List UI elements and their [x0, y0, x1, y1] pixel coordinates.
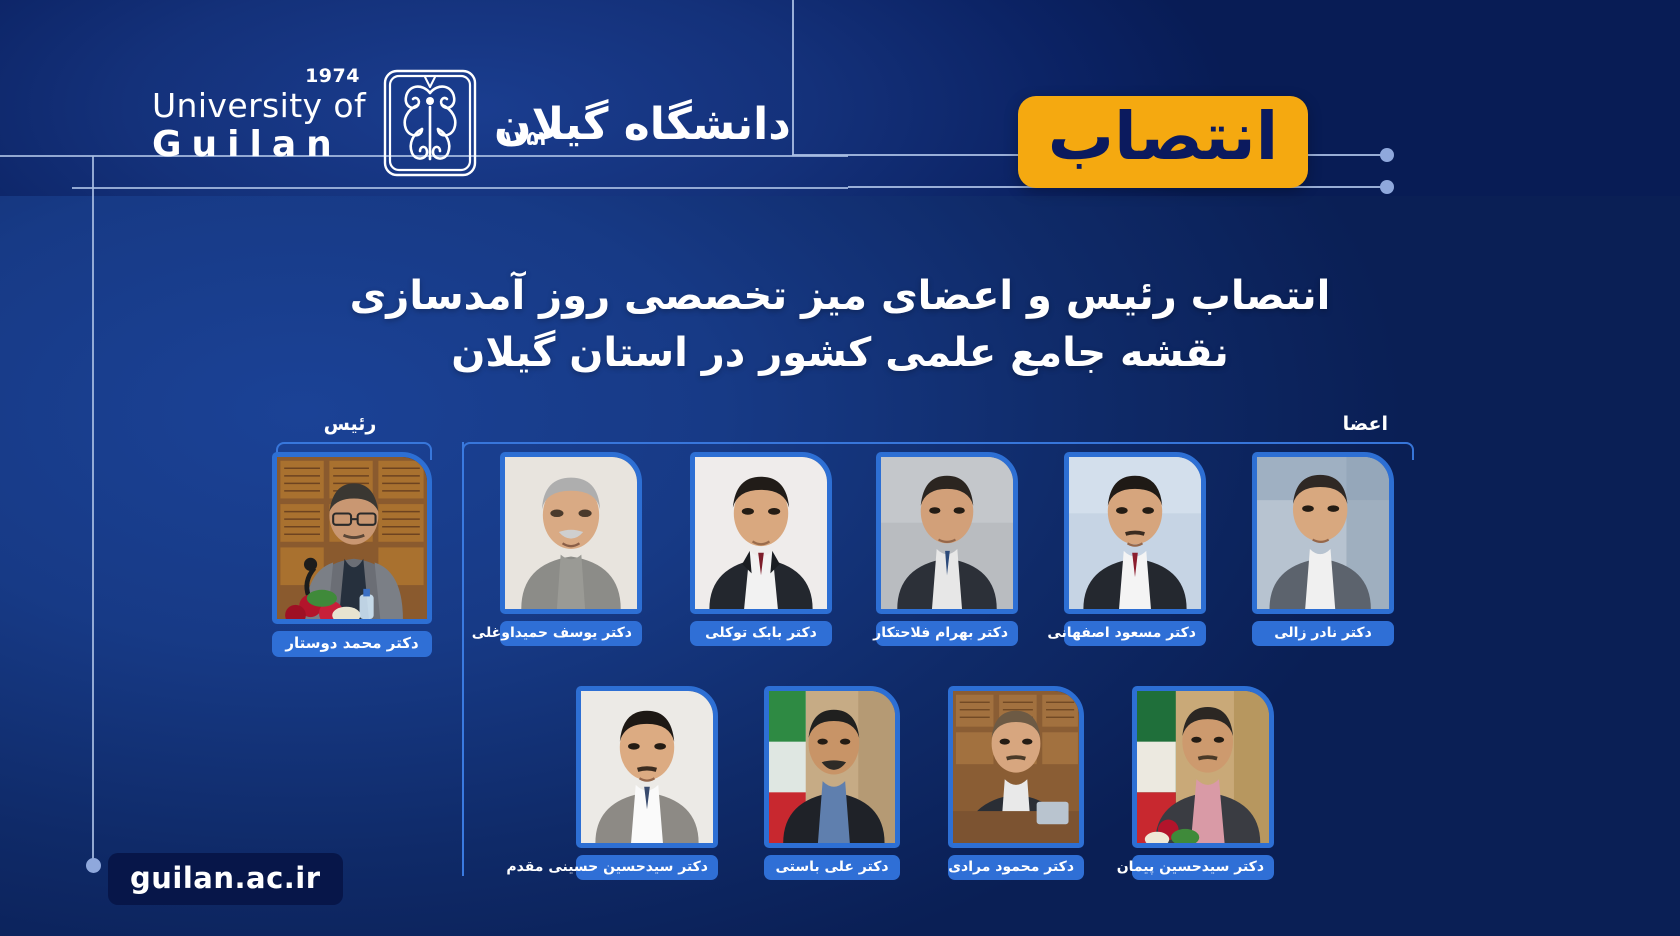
poster-canvas: 1974 University of Guilan دانشگاه گیلان …	[0, 0, 1680, 936]
decor-dot-a	[1380, 148, 1394, 162]
member-card[interactable]: دکتر سیدحسین پیمان	[1132, 686, 1274, 880]
member-photo	[1137, 691, 1269, 843]
member-photo-frame	[764, 686, 900, 848]
university-logo: 1974 University of Guilan دانشگاه گیلان …	[152, 62, 791, 184]
decor-vertical-line-right	[792, 0, 794, 156]
appointment-badge-label: انتصاب	[1022, 104, 1304, 180]
member-photo-frame	[1064, 452, 1206, 614]
member-name: دکتر محمود مرادی	[948, 855, 1084, 880]
member-photo	[581, 691, 713, 843]
member-name: دکتر مسعود اصفهانی	[1064, 621, 1206, 646]
logo-persian-text: دانشگاه گیلان ۱۳۵۳	[494, 96, 791, 151]
member-photo	[881, 457, 1013, 609]
chief-group-label: رئیس	[290, 413, 410, 435]
member-name: دکتر سیدحسین حسینی مقدم	[576, 855, 718, 880]
logo-year-en: 1974	[305, 67, 360, 86]
page-title-line-2: نقشه جامع علمی کشور در استان گیلان	[0, 325, 1680, 382]
member-photo-frame	[1132, 686, 1274, 848]
member-card[interactable]: دکتر نادر زالی	[1252, 452, 1394, 646]
member-photo-frame	[500, 452, 642, 614]
header-divider-line	[72, 187, 848, 189]
member-name: دکتر بهرام فلاحتکار	[876, 621, 1018, 646]
logo-english-text: 1974 University of Guilan	[152, 83, 366, 163]
member-photo-frame	[948, 686, 1084, 848]
member-photo-frame	[876, 452, 1018, 614]
member-photo	[695, 457, 827, 609]
member-card[interactable]: دکتر محمود مرادی	[948, 686, 1084, 880]
chief-photo	[277, 457, 427, 619]
appointment-badge: انتصاب	[1018, 96, 1308, 188]
member-card[interactable]: دکتر علی باستی	[764, 686, 900, 880]
member-photo	[769, 691, 895, 843]
members-bracket-stem	[462, 442, 464, 876]
decor-dot-b	[1380, 180, 1394, 194]
chief-card[interactable]: دکتر محمد دوستار	[272, 452, 432, 657]
member-name: دکتر نادر زالی	[1252, 621, 1394, 646]
logo-university-word: University of	[152, 89, 366, 122]
member-card[interactable]: دکتر سیدحسین حسینی مقدم	[576, 686, 718, 880]
member-name: دکتر یوسف حمیداوغلی	[500, 621, 642, 646]
member-card[interactable]: دکتر یوسف حمیداوغلی	[500, 452, 642, 646]
member-card[interactable]: دکتر بابک توکلی	[690, 452, 832, 646]
chief-photo-frame	[272, 452, 432, 624]
member-photo	[1257, 457, 1389, 609]
page-title-line-1: انتصاب رئیس و اعضای میز تخصصی روز آمدساز…	[0, 268, 1680, 325]
member-photo	[1069, 457, 1201, 609]
website-url-badge[interactable]: guilan.ac.ir	[108, 853, 343, 905]
member-photo-frame	[576, 686, 718, 848]
member-photo	[953, 691, 1079, 843]
member-photo	[505, 457, 637, 609]
member-photo-frame	[1252, 452, 1394, 614]
butterfly-emblem-icon	[380, 67, 480, 179]
member-card[interactable]: دکتر بهرام فلاحتکار	[876, 452, 1018, 646]
logo-year-fa: ۱۳۵۳	[502, 126, 551, 150]
page-title: انتصاب رئیس و اعضای میز تخصصی روز آمدساز…	[0, 268, 1680, 382]
member-photo-frame	[690, 452, 832, 614]
member-name: دکتر سیدحسین پیمان	[1132, 855, 1274, 880]
decor-dot-c	[86, 858, 101, 873]
logo-guilan-word: Guilan	[152, 127, 366, 163]
chief-name: دکتر محمد دوستار	[272, 631, 432, 657]
member-name: دکتر بابک توکلی	[690, 621, 832, 646]
members-group-label: اعضا	[1268, 413, 1388, 435]
decor-vertical-line-left	[92, 156, 94, 868]
member-name: دکتر علی باستی	[764, 855, 900, 880]
member-card[interactable]: دکتر مسعود اصفهانی	[1064, 452, 1206, 646]
